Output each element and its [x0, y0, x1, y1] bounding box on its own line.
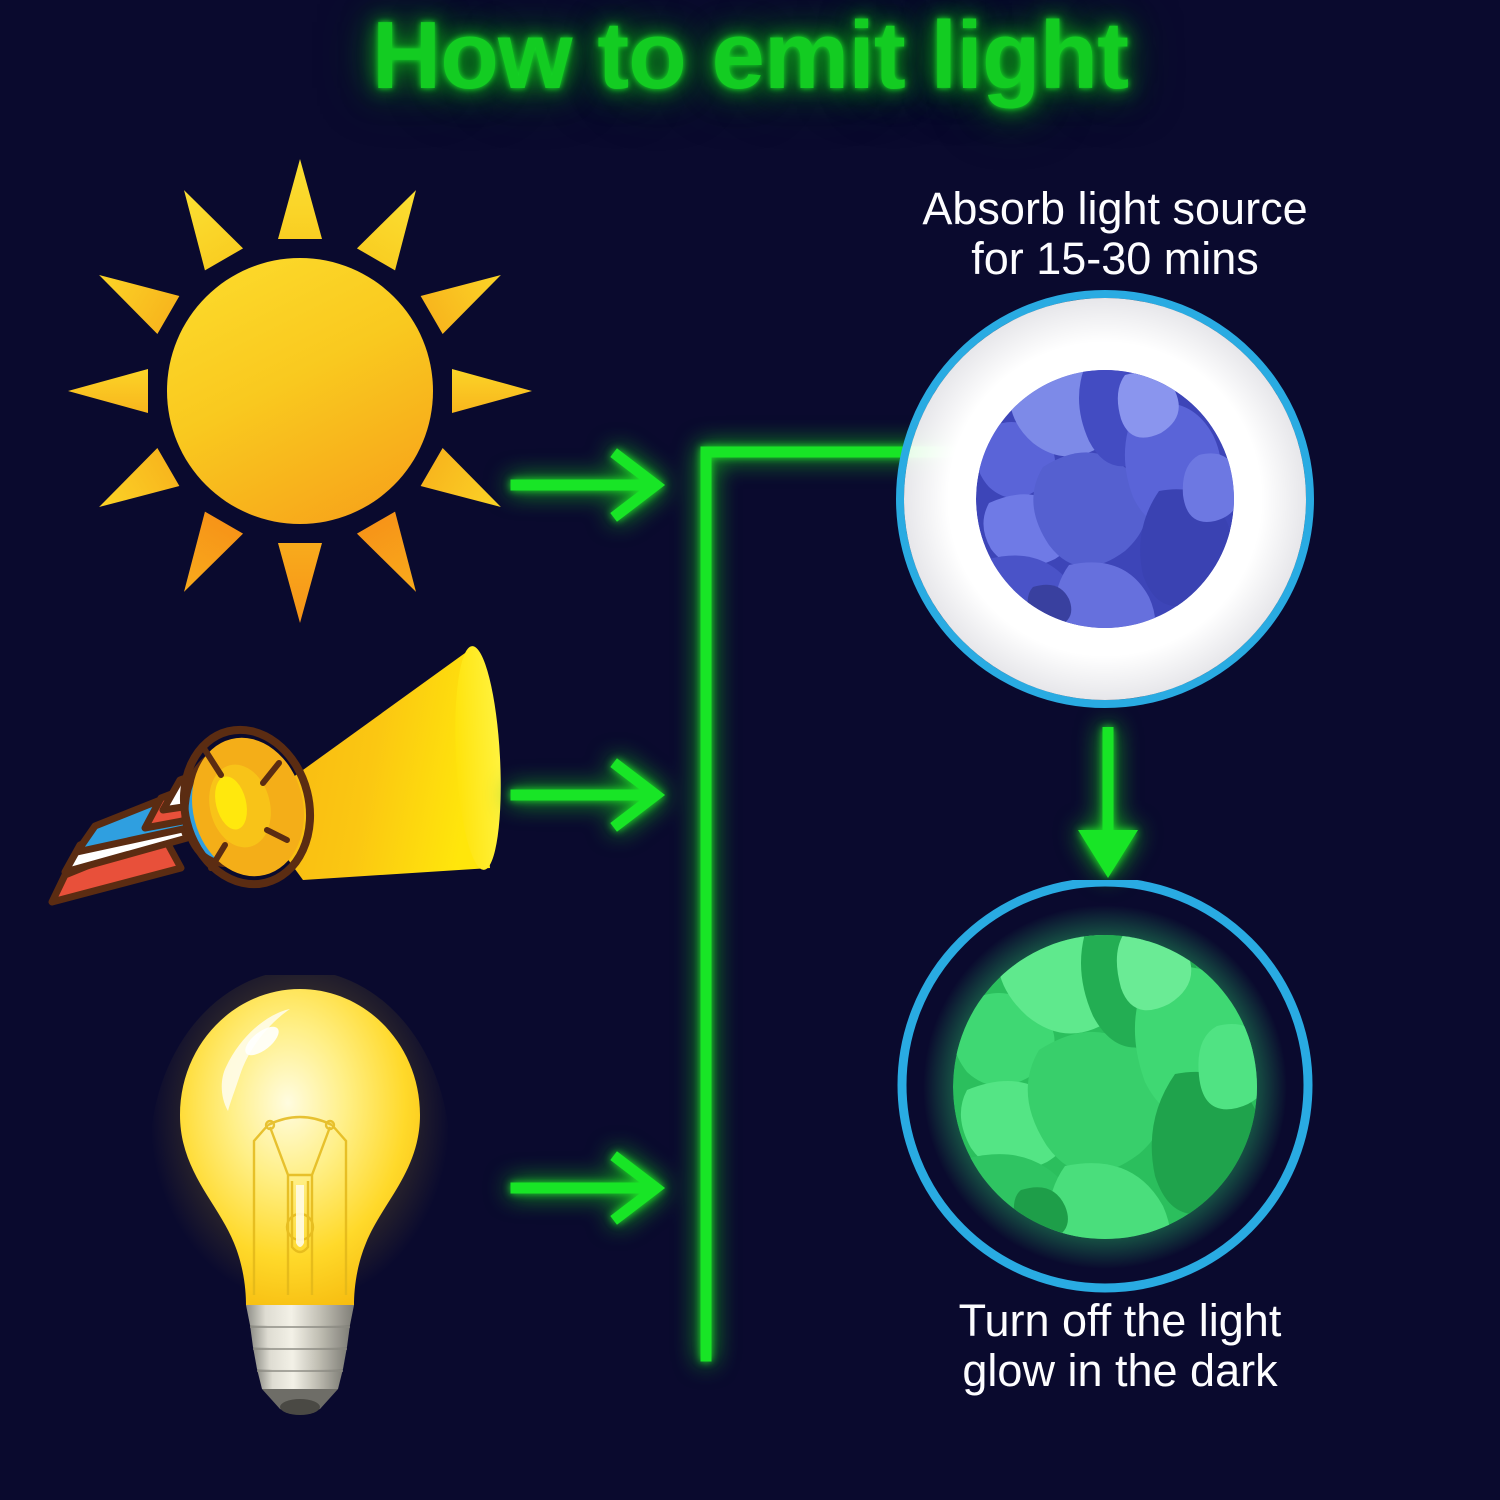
caption-turn-off-the-light: Turn off the light glow in the dark — [860, 1296, 1380, 1397]
flashlight-illustration — [35, 640, 535, 960]
arrow-from-bulb — [516, 1159, 656, 1217]
light-bulb-icon — [150, 975, 450, 1415]
arrow-from-flashlight — [516, 766, 656, 824]
sun-illustration — [55, 148, 545, 628]
charging-ball-icon — [893, 287, 1318, 712]
glowing-ball-icon — [893, 880, 1318, 1300]
arrow-charging-to-glowing — [1078, 727, 1138, 878]
caption-absorb-light-source: Absorb light source for 15-30 mins — [855, 184, 1375, 285]
light-bulb-illustration — [150, 975, 450, 1415]
green-planet-ball-glowing — [893, 880, 1318, 1300]
page-title: How to emit light — [0, 6, 1500, 107]
sun-icon — [55, 148, 545, 628]
infographic-canvas: How to emit light — [0, 0, 1500, 1500]
flashlight-icon — [35, 640, 535, 960]
blue-planet-ball-charging — [893, 287, 1318, 712]
